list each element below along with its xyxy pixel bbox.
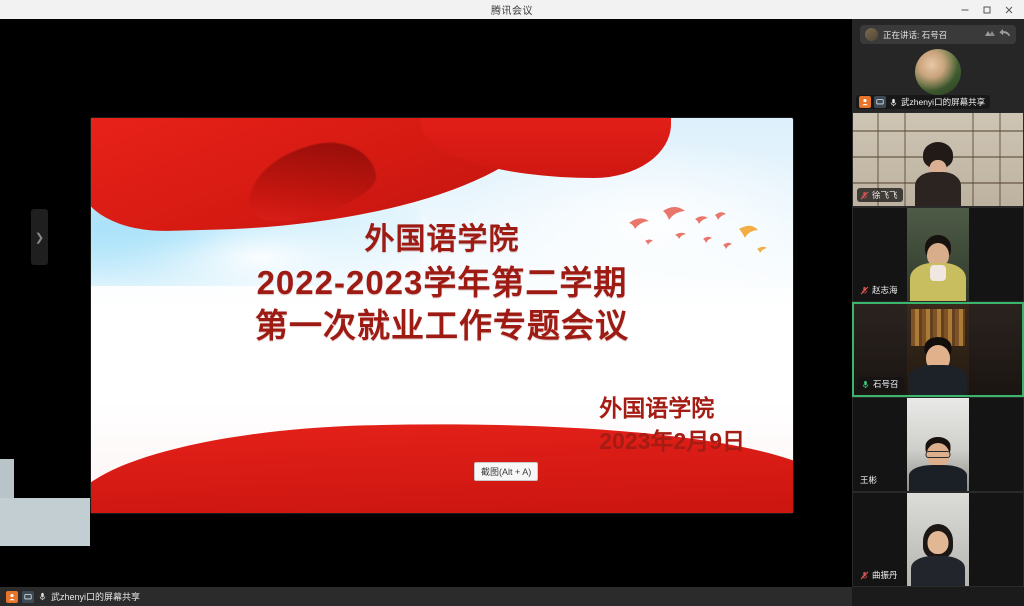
microphone-icon [889,98,898,107]
shared-screen-content: ❯ [0,19,852,584]
participant-rail: 正在讲话: 石号召 [852,19,1024,606]
screen-share-icon [22,591,34,603]
title-bar: 腾讯会议 [0,0,1024,19]
participant-tile-active[interactable]: 石号召 [852,302,1024,397]
back-icon[interactable] [999,28,1012,39]
share-label-rail: 武zhenyi口的屏幕共享 [901,96,985,108]
snip-tooltip[interactable]: 截图(Alt + A) [474,462,538,481]
slide-footer: 外国语学院 2023年2月9日 [599,392,745,458]
participant-name-chip: 曲振丹 [857,568,903,582]
collapse-icon[interactable] [983,28,996,39]
share-indicator-label: 武zhenyi口的屏幕共享 [51,590,140,603]
microphone-icon [38,592,47,601]
avatar [865,28,878,41]
microphone-icon [861,380,870,389]
speaking-now-bar: 正在讲话: 石号召 [860,25,1016,44]
participant-name: 曲振丹 [872,569,898,581]
shared-desktop-edge-bottom [0,498,90,546]
microphone-muted-icon [860,286,869,295]
minimize-icon[interactable] [954,0,976,19]
participant-name: 石号召 [873,378,899,390]
user-icon [859,96,871,108]
slide-title-line-3: 第一次就业工作专题会议 [91,304,793,347]
close-icon[interactable] [998,0,1020,19]
slide-footer-org: 外国语学院 [599,392,745,425]
participant-name-chip: 徐飞飞 [857,188,903,202]
speaking-now-label: 正在讲话: 石号召 [883,29,947,41]
app-title: 腾讯会议 [491,2,533,17]
share-indicator-chip[interactable]: 武zhenyi口的屏幕共享 [6,589,140,604]
speaker-avatar [915,49,961,95]
presentation-slide: 外国语学院 2022-2023学年第二学期 第一次就业工作专题会议 外国语学院 … [91,118,793,513]
shared-screen-stage: ❯ [0,19,852,606]
user-icon [6,591,18,603]
slide-title-line-1: 外国语学院 [91,218,793,261]
window-controls [954,0,1020,19]
slide-footer-date: 2023年2月9日 [599,425,745,458]
slide-title: 外国语学院 2022-2023学年第二学期 第一次就业工作专题会议 [91,218,793,347]
chevron-right-icon: ❯ [35,231,44,244]
participant-name-chip: 石号召 [858,377,904,391]
participant-name: 赵志海 [872,284,898,296]
participant-name-chip: 王彬 [857,473,882,487]
shared-desktop-taskbar: 武zhenyi口的屏幕共享 [0,587,852,606]
participant-name-chip: 赵志海 [857,283,903,297]
active-speaker-tile[interactable]: 正在讲话: 石号召 [852,19,1024,112]
share-indicator-chip-rail[interactable]: 武zhenyi口的屏幕共享 [856,95,990,109]
participant-tile[interactable]: 王彬 [852,397,1024,492]
participant-tile[interactable]: 曲振丹 [852,492,1024,587]
tencent-meeting-window: 腾讯会议 ❯ [0,0,1024,606]
maximize-icon[interactable] [976,0,998,19]
speaker-tile-controls[interactable] [983,28,1012,39]
screen-share-icon [874,96,886,108]
participant-name: 徐飞飞 [872,189,898,201]
expand-sidebar-handle[interactable]: ❯ [31,209,48,265]
slide-title-line-2: 2022-2023学年第二学期 [91,261,793,304]
participant-name: 王彬 [860,474,877,486]
participant-tile[interactable]: 赵志海 [852,207,1024,302]
participant-tile[interactable]: 徐飞飞 [852,112,1024,207]
microphone-muted-icon [860,191,869,200]
microphone-muted-icon [860,571,869,580]
